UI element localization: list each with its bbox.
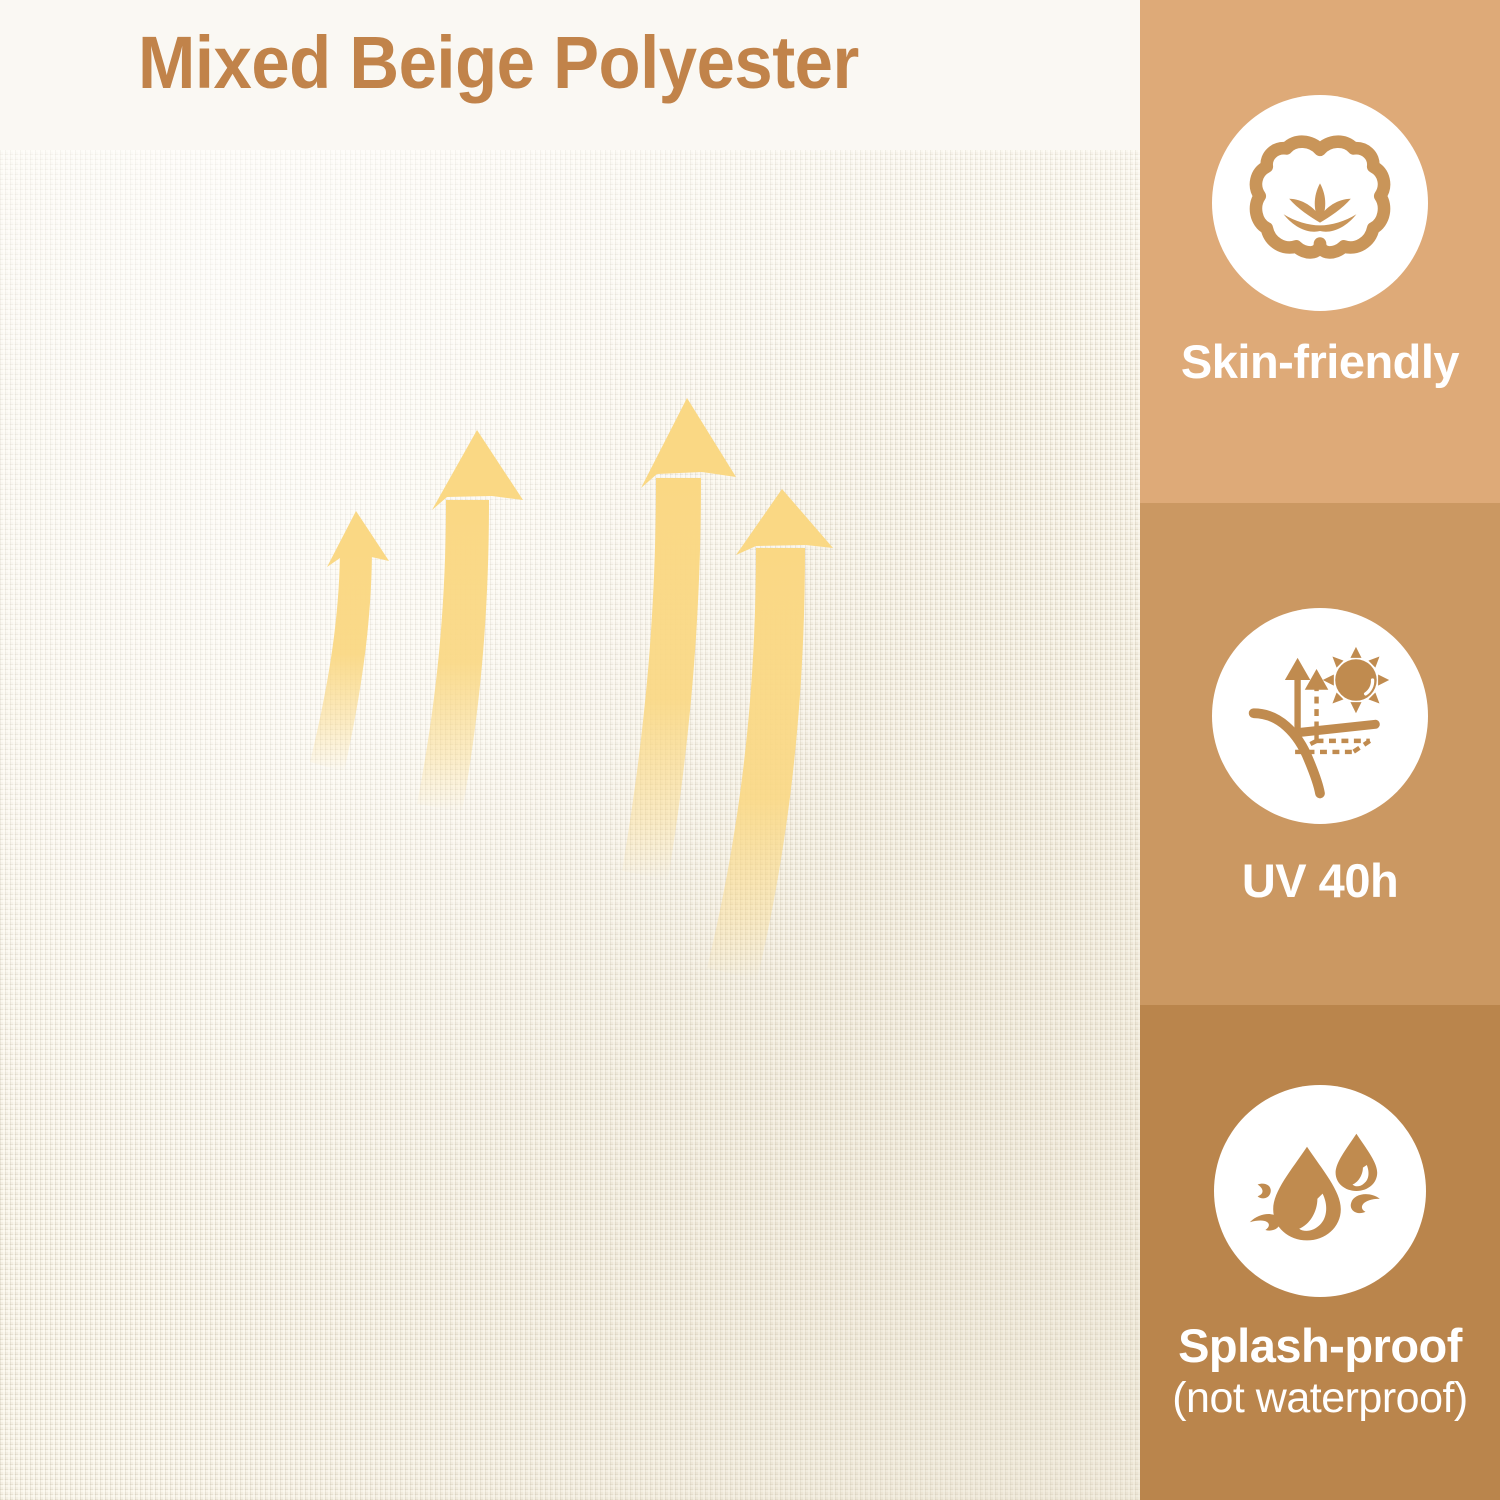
feature-sublabel-splash-proof: (not waterproof) xyxy=(1172,1374,1468,1422)
product-feature-poster: Mixed Beige Polyester xyxy=(0,0,1500,1500)
feature-panel-splash-proof[interactable]: Splash-proof (not waterproof) xyxy=(1140,1005,1500,1500)
feature-label-splash-proof: Splash-proof xyxy=(1178,1321,1462,1372)
feature-label-skin-friendly: Skin-friendly xyxy=(1181,337,1459,388)
uv-sun-fabric-icon xyxy=(1237,633,1403,799)
water-droplet-splash-icon xyxy=(1242,1113,1398,1269)
page-title: Mixed Beige Polyester xyxy=(138,26,859,100)
feature-panel-skin-friendly[interactable]: Skin-friendly xyxy=(1140,0,1500,503)
icon-badge-splash-proof xyxy=(1214,1085,1426,1297)
feature-label-uv-protection: UV 40h xyxy=(1242,856,1398,907)
icon-badge-uv-protection xyxy=(1212,608,1428,824)
fabric-swatch-image xyxy=(0,0,1140,1500)
icon-badge-skin-friendly xyxy=(1212,95,1428,311)
fabric-weave-texture xyxy=(0,148,1140,1500)
feature-sidebar: Skin-friendly xyxy=(1140,0,1500,1500)
feature-panel-uv-protection[interactable]: UV 40h xyxy=(1140,503,1500,1005)
cotton-boll-icon xyxy=(1236,119,1404,287)
